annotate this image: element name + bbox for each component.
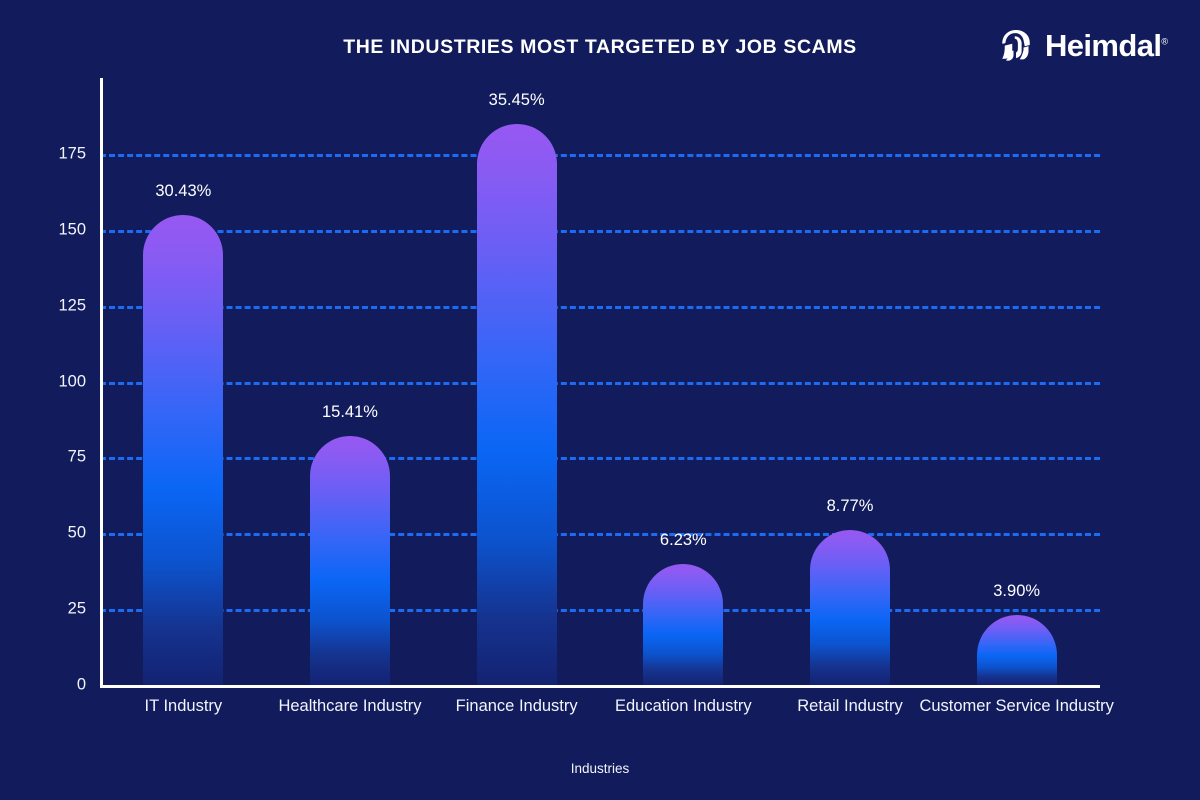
- registered-trademark-symbol: ®: [1161, 36, 1168, 46]
- y-tick-label: 75: [14, 448, 86, 467]
- y-tick-label: 0: [14, 676, 86, 695]
- chart-bars: 30.43%15.41%35.45%6.23%8.77%3.90%: [100, 78, 1100, 685]
- bar-group: 8.77%: [767, 78, 934, 685]
- bar[interactable]: [310, 436, 390, 685]
- bar-value-label: 8.77%: [827, 497, 874, 516]
- x-axis-title: Industries: [0, 761, 1200, 776]
- bar-value-label: 30.43%: [155, 182, 211, 201]
- bar-value-label: 15.41%: [322, 403, 378, 422]
- bar-value-label: 3.90%: [993, 582, 1040, 601]
- y-tick-label: 125: [14, 296, 86, 315]
- bar-group: 6.23%: [600, 78, 767, 685]
- y-tick-label: 175: [14, 144, 86, 163]
- bar-value-label: 35.45%: [489, 91, 545, 110]
- bar[interactable]: [643, 564, 723, 685]
- bar[interactable]: [143, 215, 223, 685]
- x-axis-tick-labels: IT IndustryHealthcare IndustryFinance In…: [100, 697, 1100, 757]
- infographic-canvas: THE INDUSTRIES MOST TARGETED BY JOB SCAM…: [0, 0, 1200, 800]
- y-tick-label: 50: [14, 524, 86, 543]
- brand-logo: Heimdal®: [996, 25, 1168, 65]
- bar[interactable]: [810, 530, 890, 685]
- bar-group: 15.41%: [267, 78, 434, 685]
- bar[interactable]: [977, 615, 1057, 685]
- x-axis-line: [100, 685, 1100, 688]
- viking-helmet-icon: [996, 25, 1036, 65]
- y-tick-label: 25: [14, 600, 86, 619]
- y-tick-label: 150: [14, 220, 86, 239]
- brand-name-text: Heimdal: [1045, 28, 1161, 63]
- x-tick-label: Customer Service Industry: [917, 697, 1117, 716]
- bar[interactable]: [477, 124, 557, 685]
- bar-value-label: 6.23%: [660, 531, 707, 550]
- bar-group: 30.43%: [100, 78, 267, 685]
- bar-group: 35.45%: [433, 78, 600, 685]
- brand-wordmark: Heimdal®: [1045, 30, 1168, 61]
- y-axis-title: Count: [0, 349, 1, 385]
- y-tick-label: 100: [14, 372, 86, 391]
- bar-group: 3.90%: [933, 78, 1100, 685]
